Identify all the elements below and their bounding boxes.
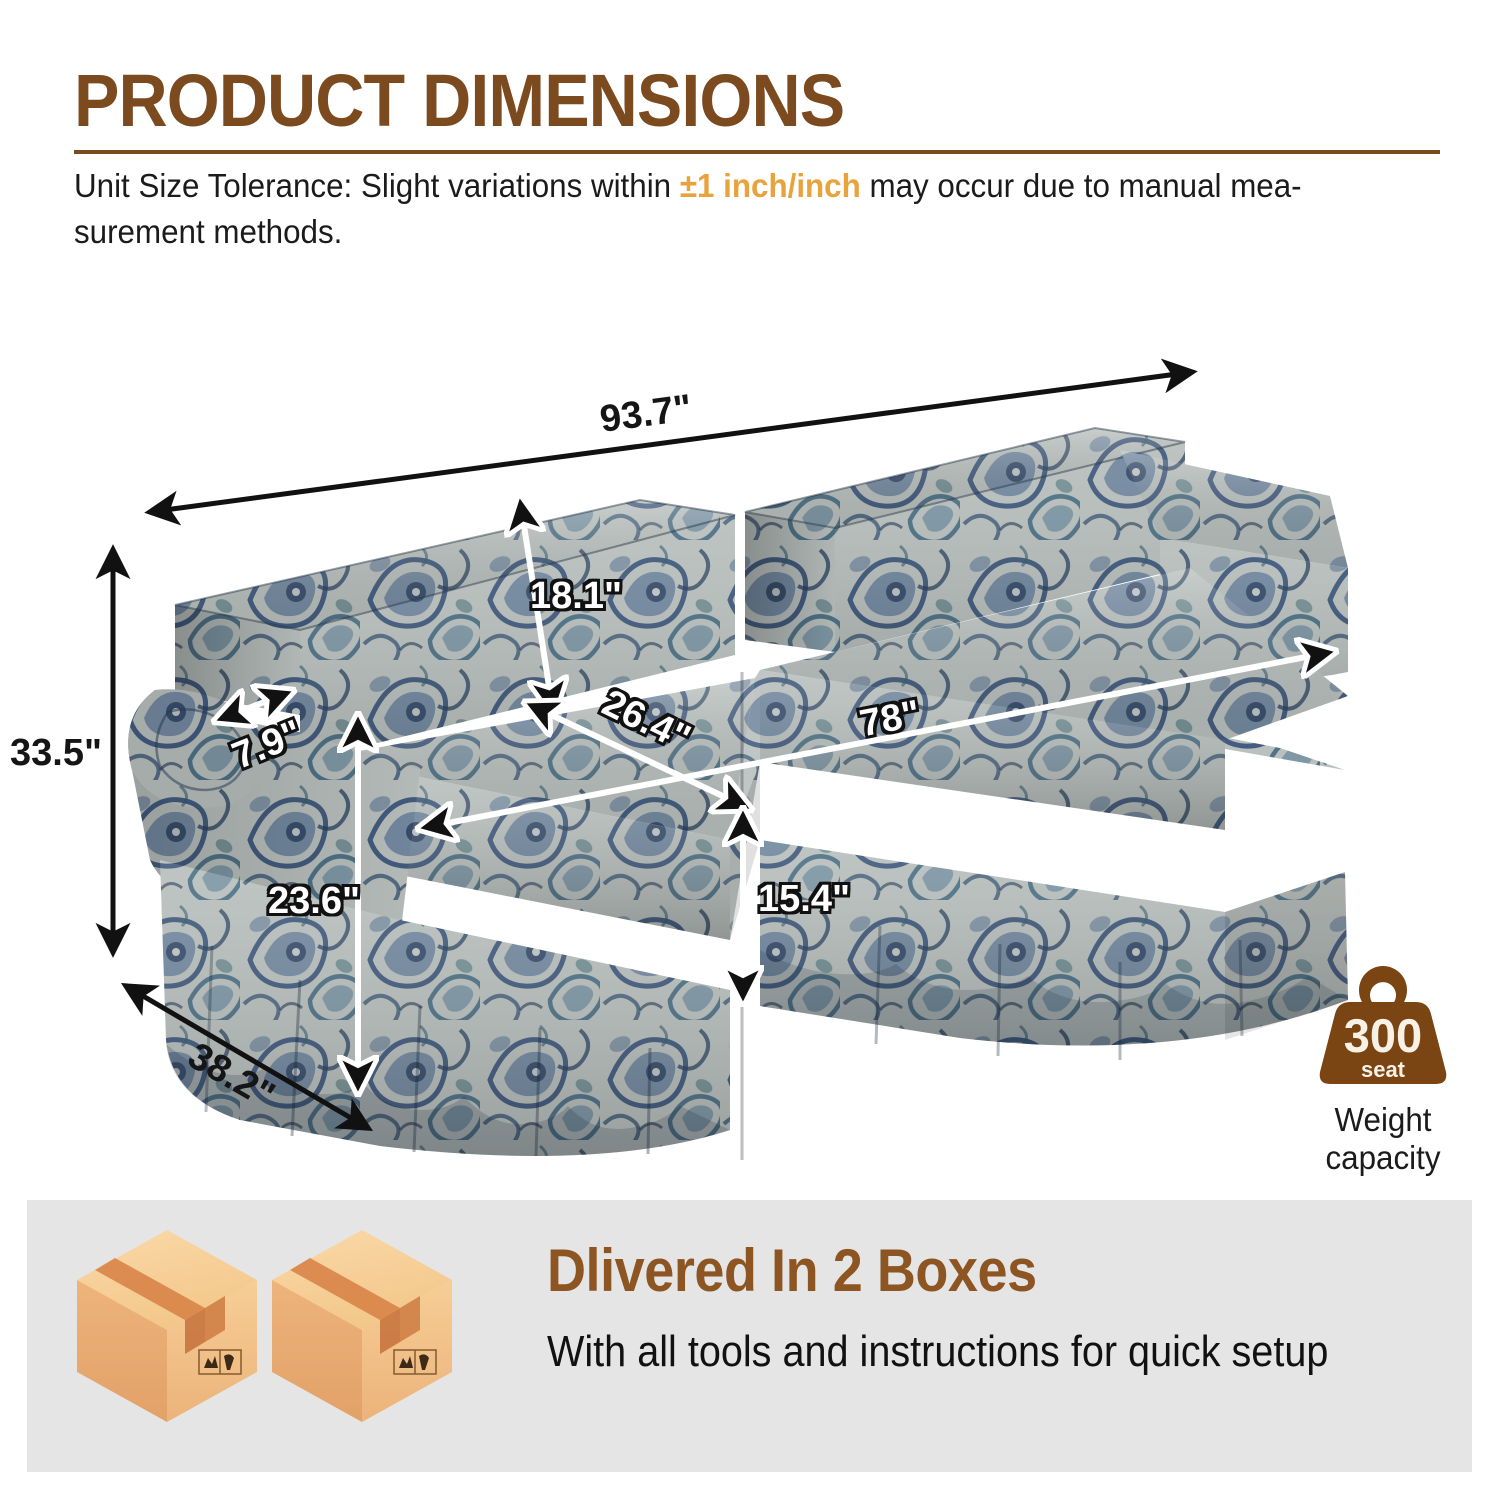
header: PRODUCT DIMENSIONS Unit Size Tolerance: … (0, 0, 1500, 270)
dimension-label-leg-height: 23.6" (268, 880, 360, 923)
page-title: PRODUCT DIMENSIONS (74, 58, 844, 143)
delivery-title: Dlivered In 2 Boxes (547, 1236, 1328, 1305)
delivery-text-block: Dlivered In 2 Boxes With all tools and i… (547, 1236, 1415, 1377)
weight-icon: 300 seat (1288, 960, 1478, 1090)
tolerance-highlight: ±1 inch/inch (680, 167, 861, 204)
title-divider (74, 150, 1440, 154)
weight-capacity-caption: Weight capacity (1293, 1101, 1474, 1177)
sofa-skirt-right (760, 840, 1348, 1060)
weight-value: 300 (1344, 1009, 1422, 1062)
delivery-boxes-icon (67, 1222, 497, 1452)
box-2 (272, 1230, 452, 1422)
sofa-illustration (128, 428, 1348, 1160)
dimension-label-backrest-height: 18.1" (530, 575, 622, 618)
weight-unit: seat (1361, 1057, 1406, 1082)
dimension-label-overall-height: 33.5" (10, 732, 102, 775)
delivery-subtitle: With all tools and instructions for quic… (547, 1327, 1328, 1377)
tolerance-prefix: Unit Size Tolerance: Slight variations w… (74, 167, 680, 204)
box-1 (77, 1230, 257, 1422)
weight-capacity-badge: 300 seat Weight capacity (1288, 960, 1478, 1177)
dimension-label-seat-height: 15.4" (758, 878, 850, 921)
delivery-banner: Dlivered In 2 Boxes With all tools and i… (27, 1200, 1472, 1472)
tolerance-note: Unit Size Tolerance: Slight variations w… (74, 163, 1385, 255)
dimension-diagram: 93.7" 33.5" 38.2" 18.1" 7.9" 26.4" 78" 1… (0, 300, 1500, 1200)
